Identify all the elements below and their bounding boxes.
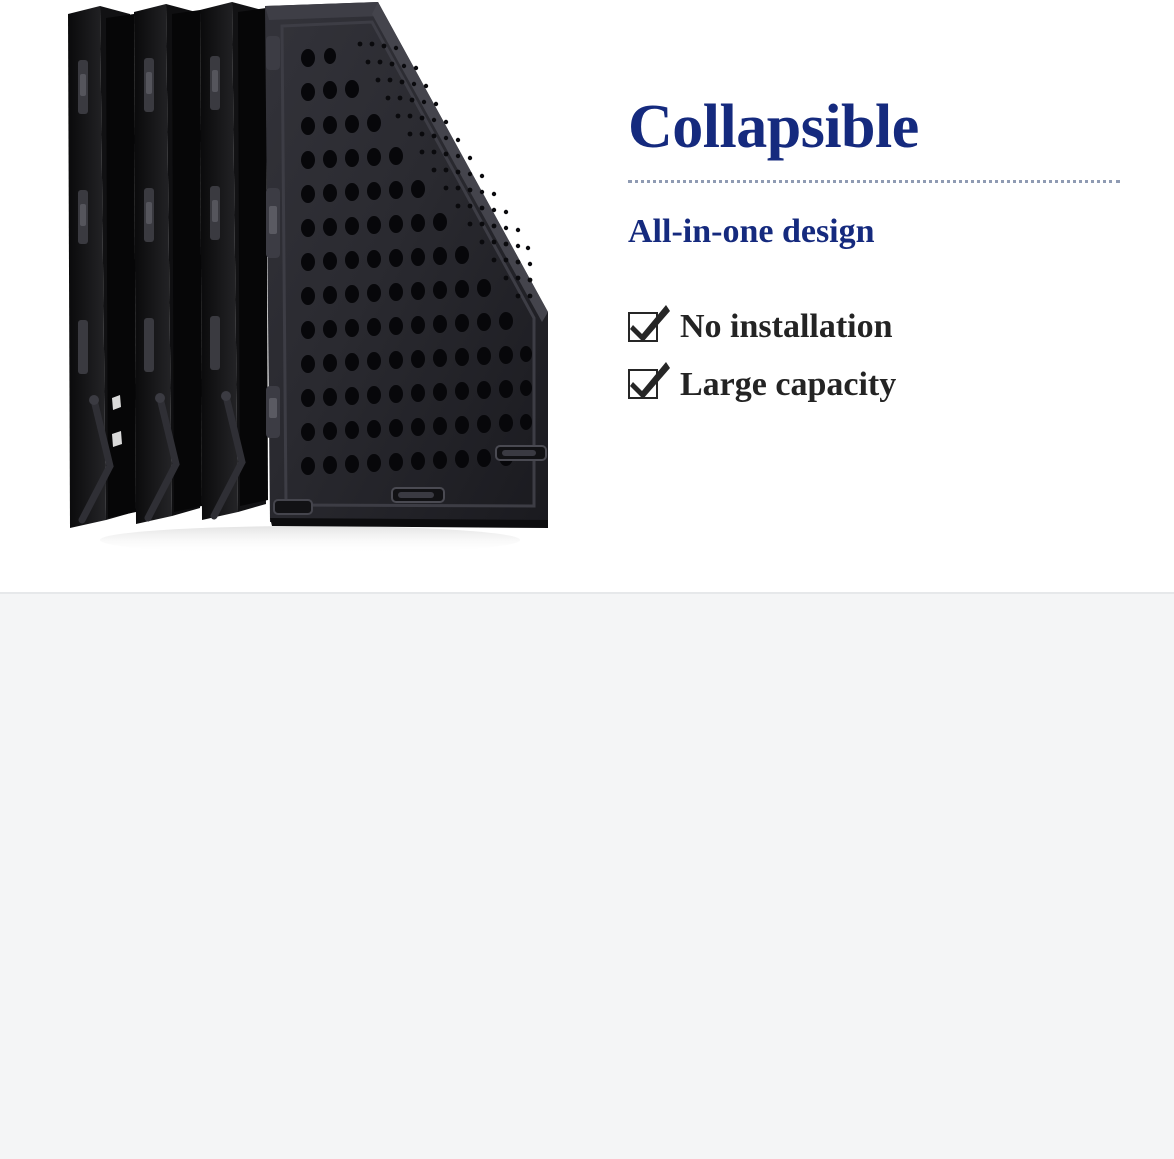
collapsible-feature-list: No installation Large capacity [628, 308, 1128, 403]
feature-label: No installation [680, 308, 893, 345]
feature-item-no-installation: No installation [628, 308, 1128, 345]
all-in-one-subheading: All-in-one design [628, 213, 1128, 250]
checkbox-checked-icon [628, 312, 658, 342]
feature-label: Large capacity [680, 366, 896, 403]
dotted-divider-top [628, 180, 1120, 183]
black-folded-file-organizer-photo [60, 0, 550, 552]
product-infographic: Collapsible All-in-one design No install… [0, 0, 1174, 1159]
collapsible-copy-block: Collapsible All-in-one design No install… [628, 96, 1128, 423]
feature-item-large-capacity: Large capacity [628, 366, 1128, 403]
collapsible-panel: Collapsible All-in-one design No install… [0, 0, 1174, 592]
collapsible-headline: Collapsible [628, 96, 1128, 158]
checkbox-checked-icon [628, 369, 658, 399]
retractable-panel: Freely retractable Space saving [0, 592, 1174, 1159]
